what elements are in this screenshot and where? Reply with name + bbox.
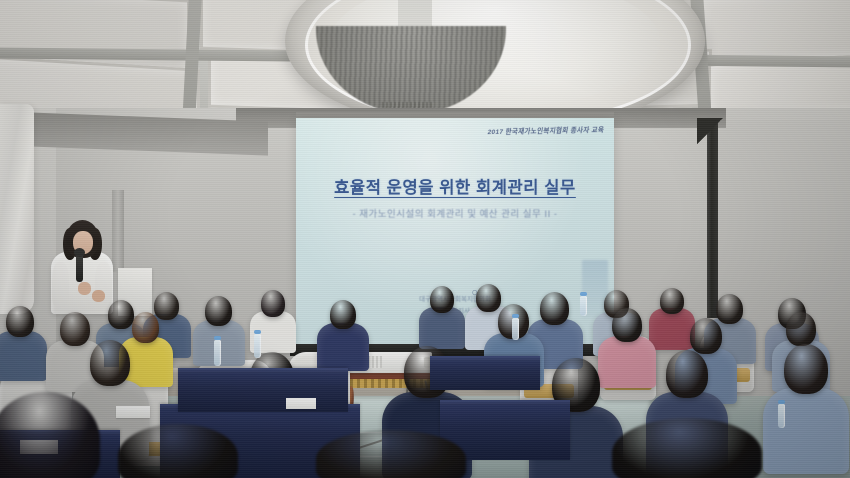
bottle-cap (778, 400, 785, 404)
table-top-edge (178, 368, 348, 373)
audience-person-head (476, 284, 501, 312)
audience-person-head (612, 308, 642, 342)
water-bottle (254, 334, 261, 358)
bottle-cap (254, 330, 261, 334)
audience-person-body (598, 336, 656, 388)
audience-person-head (540, 292, 569, 325)
audience-person-body (317, 323, 369, 371)
water-bottle (512, 318, 519, 340)
audience-person-head (132, 312, 159, 343)
foreground-head-silhouette (612, 418, 762, 478)
draped-table (430, 356, 540, 390)
water-bottle (214, 340, 221, 366)
table-top-edge (430, 356, 540, 361)
bottle-cap (512, 314, 519, 318)
water-bottle (778, 404, 785, 428)
audience-person-body (649, 308, 695, 350)
water-bottle (580, 296, 587, 316)
audience-person-head (660, 288, 684, 314)
audience-person-head (205, 296, 232, 326)
audience-person-head (716, 294, 743, 324)
audience-layer (0, 0, 850, 478)
draped-table (178, 368, 348, 412)
audience-person-head (786, 312, 816, 346)
audience-person-head (430, 286, 454, 313)
audience-person-head (330, 300, 356, 329)
audience-person-head (690, 318, 722, 354)
audience-person-head (90, 340, 130, 386)
audience-person-head (784, 344, 828, 394)
handout-paper (286, 398, 316, 409)
audience-person-head (6, 306, 34, 337)
audience-person-head (666, 350, 708, 398)
table-top-edge (440, 400, 570, 405)
bottle-cap (580, 292, 587, 296)
audience-person-body (419, 307, 465, 349)
audience-person-head (108, 300, 134, 329)
audience-person-head (60, 312, 90, 346)
audience-person-body (0, 331, 47, 381)
handout-paper (116, 406, 150, 418)
audience-person-body (763, 388, 849, 474)
audience-person-head (154, 292, 179, 320)
audience-person-head (261, 290, 285, 317)
photo-canvas: 2017 한국재가노인복지협회 종사자 교육 효율적 운영을 위한 회계관리 실… (0, 0, 850, 478)
bottle-cap (214, 336, 221, 340)
